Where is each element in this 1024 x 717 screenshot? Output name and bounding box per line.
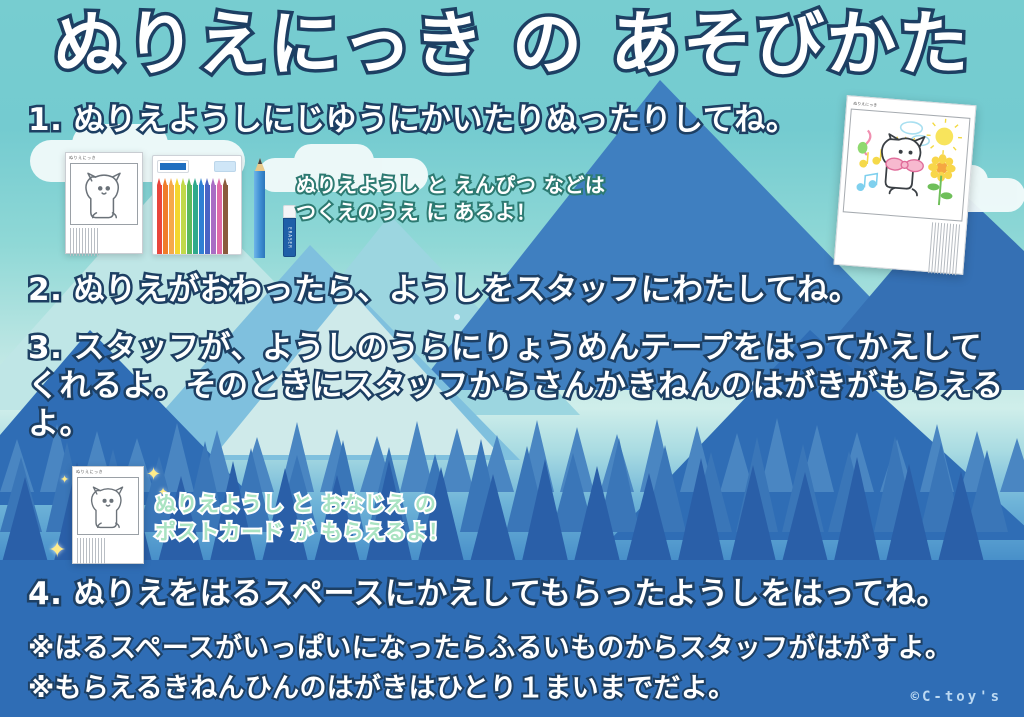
step-3-text: 3. スタッフが、ようしのうらにりょうめんテープをはってかえしてくれるよ。そのと… [28, 330, 1008, 443]
pine-tree [780, 472, 830, 570]
pencil-tip [175, 178, 179, 185]
pencil-tip [181, 178, 185, 185]
copyright-text: ©C-toy's [911, 689, 1002, 705]
colored-pencil [199, 178, 204, 255]
pine-tree [572, 466, 622, 570]
pencil-tip [157, 178, 161, 185]
step-4-text: 4. ぬりえをはるスペースにかえしてもらったようしをはってね。 [28, 576, 948, 614]
pencil-body [181, 185, 186, 255]
caption-bottom: ぬりえようし と おなじえ の ポストカード が もらえるよ！ [155, 490, 450, 547]
pencil-tip [223, 178, 227, 185]
step-1-text: 1. ぬりえようしにじゆうにかいたりぬったりしてね。 [28, 102, 797, 140]
pencil-body [199, 185, 204, 255]
colored-pencil [193, 178, 198, 255]
dog-outline-icon [71, 164, 137, 224]
eraser-sleeve: ERASER [283, 218, 296, 257]
pine-tree [884, 464, 934, 570]
sheet-header-bottom: ぬりえにっき [73, 467, 143, 475]
colored-pencil [205, 178, 210, 255]
note-2: ※もらえるきねんひんのはがきはひとり１まいまでだよ。 [28, 672, 735, 707]
colored-pencil [181, 178, 186, 255]
pencil-body [187, 185, 192, 255]
finished-postcard: ぬりえにっき [834, 95, 977, 275]
colored-pencil [187, 178, 192, 255]
pencil-body [163, 185, 168, 255]
colored-dog-drawing-icon [844, 110, 970, 221]
pencil-tip [163, 178, 167, 185]
sheet-drawing-frame [70, 163, 138, 225]
eraser-label: ERASER [287, 227, 292, 249]
tree-row-front [0, 430, 1024, 570]
blue-pencil [254, 158, 265, 258]
pine-tree [728, 465, 778, 570]
sparkle-icon: ✦ [48, 540, 66, 562]
colored-pencil [211, 178, 216, 255]
pencil-body [211, 185, 216, 255]
caption-top-line-2: つくえのうえ に あるよ！ [296, 199, 605, 226]
colored-pencil [157, 178, 162, 255]
poster-root: ぬりえにっき の あそびかた 1. ぬりえようしにじゆうにかいたりぬったりしてね… [0, 0, 1024, 717]
sparkle-icon: ✦ [146, 466, 161, 484]
sheet-header-top: ぬりえにっき [66, 153, 142, 161]
sparkle-icon: ✦ [60, 474, 69, 485]
postcard-picture [843, 109, 971, 222]
pencil-tip [199, 178, 203, 185]
pencil-body [223, 185, 228, 255]
pine-tree [520, 459, 570, 570]
colored-pencil [223, 178, 228, 255]
pencil-tip [193, 178, 197, 185]
pencil-strip [153, 172, 241, 255]
caption-top: ぬりえようし と えんぴつ などは つくえのうえ に あるよ！ [296, 172, 605, 226]
postcard-diary-lines [838, 212, 962, 275]
sheet-drawing-frame-bottom [77, 477, 139, 535]
pine-tree [624, 473, 674, 570]
pine-tree [468, 474, 518, 570]
colored-pencil [217, 178, 222, 255]
colored-pencil [175, 178, 180, 255]
pencil-tip [187, 178, 191, 185]
pencil-lead [258, 158, 262, 164]
caption-bottom-line-1: ぬりえようし と おなじえ の [155, 490, 450, 518]
note-1: ※はるスペースがいっぱいになったらふるいものからスタッフがはがすよ。 [28, 632, 952, 667]
eraser: ERASER [283, 205, 296, 257]
pine-tree [832, 457, 882, 570]
snow-dot [454, 314, 460, 320]
pencil-tip [205, 178, 209, 185]
dog-outline-icon [78, 478, 138, 534]
caption-bottom-line-2: ポストカード が もらえるよ！ [155, 518, 450, 546]
sheet-writing-lines-bottom [77, 538, 139, 564]
caption-top-line-1: ぬりえようし と えんぴつ などは [296, 172, 605, 199]
pine-tree [936, 471, 986, 570]
coloring-sheet-blank-top: ぬりえにっき [65, 152, 143, 254]
pine-tree [0, 477, 50, 570]
pencil-box-labels [153, 156, 241, 172]
page-title: ぬりえにっき の あそびかた [0, 8, 1024, 82]
pencil-tip [169, 178, 173, 185]
pencil-body [169, 185, 174, 255]
pencil-barrel [254, 171, 265, 258]
sheet-writing-lines [70, 228, 138, 256]
pencil-box-side-label [214, 161, 236, 172]
pencil-box-brand-label [158, 161, 188, 172]
colored-pencil-box [152, 155, 242, 255]
step-2-text: 2. ぬりえがおわったら、ようしをスタッフにわたしてね。 [28, 272, 860, 310]
pencil-body [193, 185, 198, 255]
pencil-body [175, 185, 180, 255]
pencil-tip [217, 178, 221, 185]
pencil-body [217, 185, 222, 255]
pine-tree [676, 458, 726, 570]
pencil-body [157, 185, 162, 255]
pencil-tip [211, 178, 215, 185]
eraser-top [283, 205, 296, 218]
coloring-sheet-blank-bottom: ぬりえにっき [72, 466, 144, 564]
colored-pencil [163, 178, 168, 255]
pencil-body [205, 185, 210, 255]
colored-pencil [169, 178, 174, 255]
